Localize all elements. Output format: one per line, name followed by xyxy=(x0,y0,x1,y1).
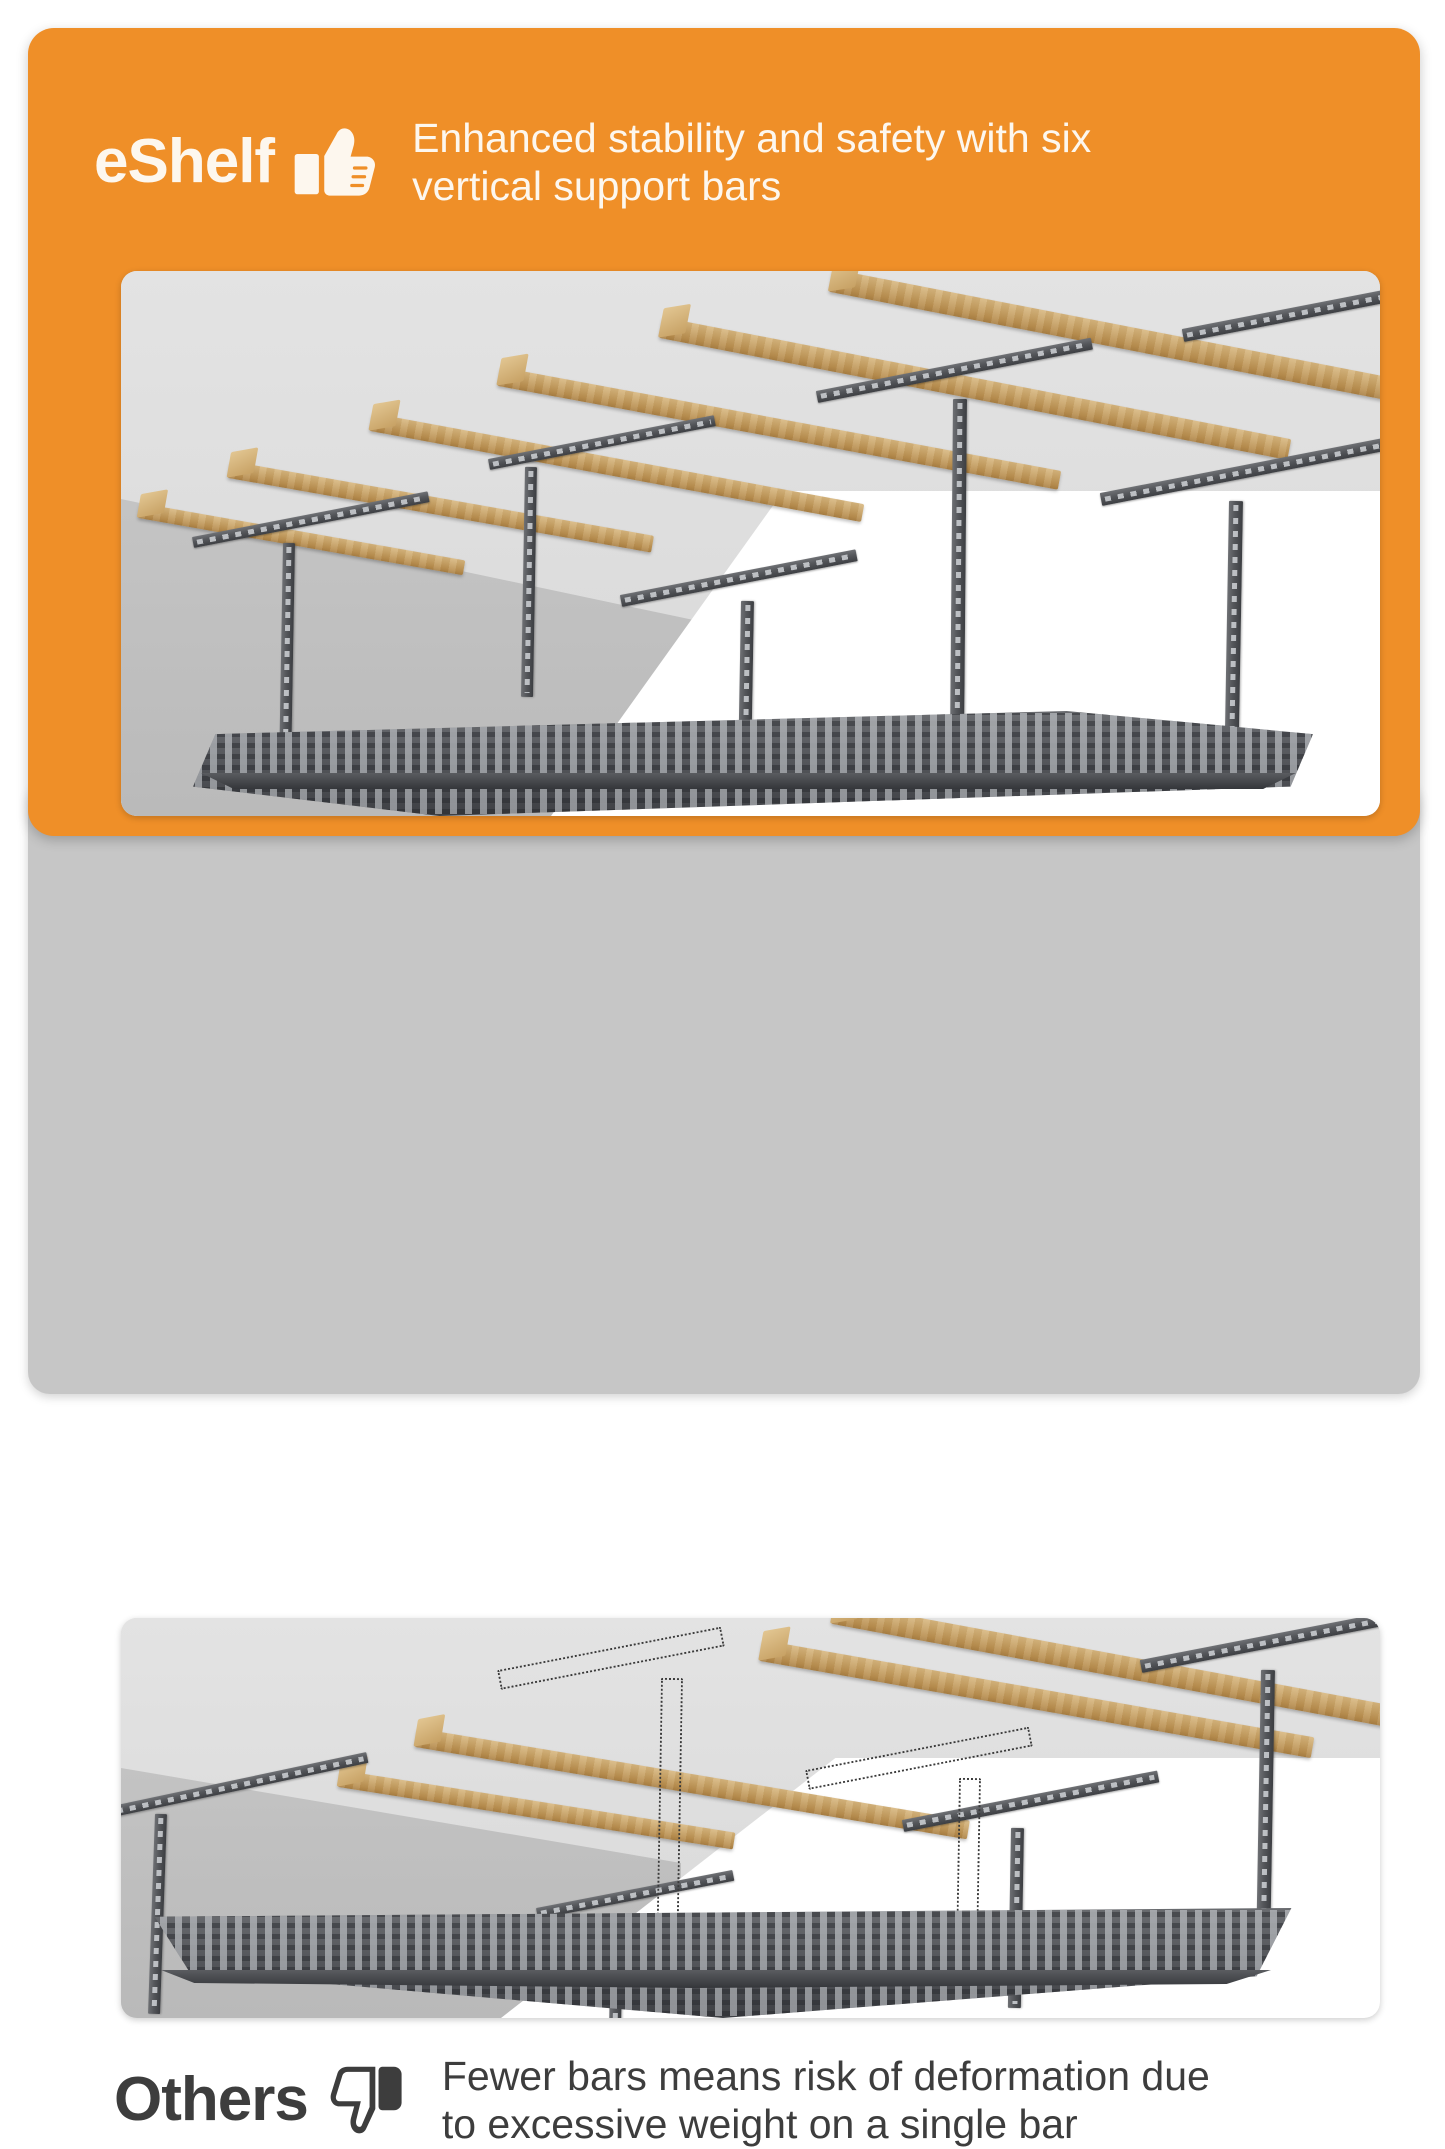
eshelf-brand-label: eShelf xyxy=(94,131,274,193)
shelf-front-edge xyxy=(201,773,1296,789)
thumbs-down-icon xyxy=(326,2059,408,2141)
eshelf-comparison-card: eShelf Enhanced stability and safety wit… xyxy=(28,28,1420,836)
missing-support-post-outline xyxy=(657,1678,683,1930)
eshelf-3d-scene xyxy=(121,271,1380,816)
eshelf-illustration-panel xyxy=(121,271,1380,816)
thumbs-up-icon xyxy=(292,119,378,205)
others-3d-scene xyxy=(121,1618,1380,2018)
eshelf-tagline: Enhanced stability and safety with six v… xyxy=(412,114,1091,211)
vertical-support-post xyxy=(950,399,967,737)
others-comparison-card: Others Fewer bars means risk of deformat… xyxy=(28,780,1420,1394)
others-illustration-panel xyxy=(121,1618,1380,2018)
others-tagline: Fewer bars means risk of deformation due… xyxy=(442,2052,1210,2149)
infographic-page: Others Fewer bars means risk of deformat… xyxy=(0,0,1445,1422)
others-header: Others Fewer bars means risk of deformat… xyxy=(114,2052,1434,2149)
eshelf-header: eShelf Enhanced stability and safety wit… xyxy=(94,114,1384,211)
others-brand-label: Others xyxy=(114,2069,308,2131)
